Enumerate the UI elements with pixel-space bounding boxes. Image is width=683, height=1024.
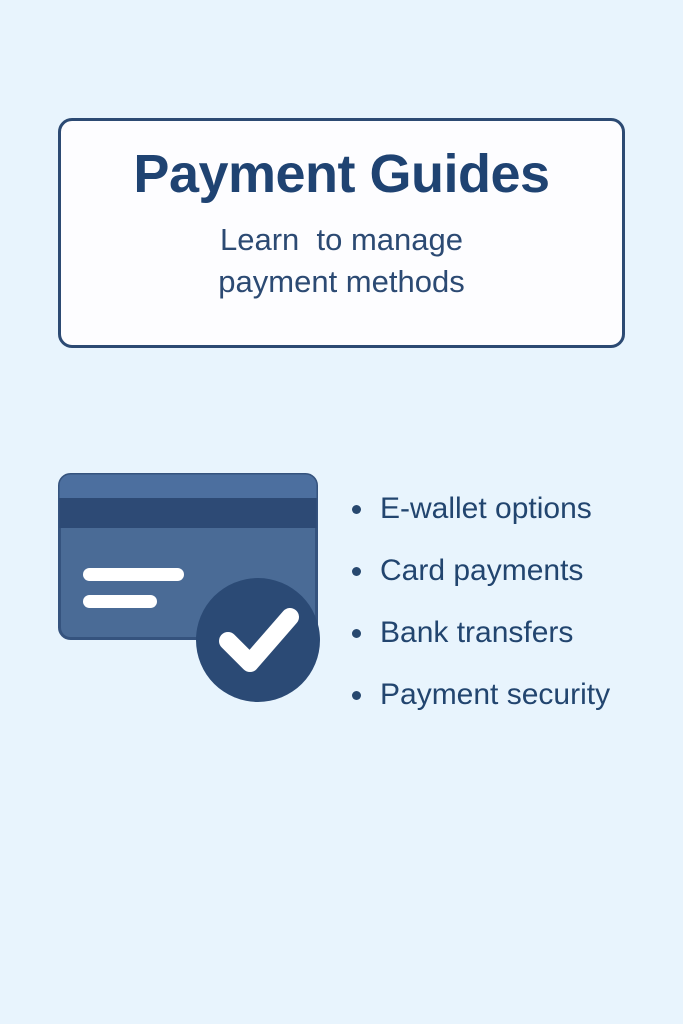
infographic-page: Payment Guides Learn to manage payment m…: [0, 0, 683, 1024]
payment-topics-list: E-wallet options Card payments Bank tran…: [352, 478, 672, 726]
bullet-dot-icon: [352, 691, 361, 700]
check-badge-icon: [196, 578, 320, 702]
card-line-short: [83, 595, 157, 608]
header-card: Payment Guides Learn to manage payment m…: [58, 118, 625, 348]
bullet-dot-icon: [352, 567, 361, 576]
subtitle-line-1: Learn to manage: [220, 222, 463, 257]
list-item: Card payments: [352, 540, 672, 602]
list-item: Payment security: [352, 664, 672, 726]
list-item-label: E-wallet options: [380, 494, 592, 524]
list-item-label: Card payments: [380, 556, 583, 586]
list-item: Bank transfers: [352, 602, 672, 664]
card-line-long: [83, 568, 184, 581]
page-subtitle: Learn to manage payment methods: [218, 219, 464, 303]
credit-card-icon: [58, 473, 318, 710]
page-title: Payment Guides: [133, 143, 549, 205]
bullet-dot-icon: [352, 629, 361, 638]
bullet-dot-icon: [352, 505, 361, 514]
list-item: E-wallet options: [352, 478, 672, 540]
list-item-label: Bank transfers: [380, 618, 573, 648]
content-row: E-wallet options Card payments Bank tran…: [0, 465, 683, 715]
subtitle-line-2: payment methods: [218, 264, 464, 299]
list-item-label: Payment security: [380, 680, 610, 710]
